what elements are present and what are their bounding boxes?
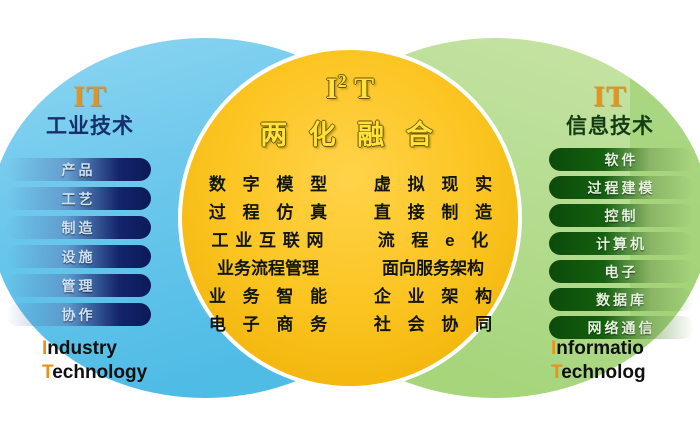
center-left-column: 数 字 模 型 过 程 仿 真 工 业 互 联 网 业务流程管理 业 务 智 能… xyxy=(193,168,343,336)
left-list-item[interactable]: 设施 xyxy=(6,245,151,268)
center-left-item: 业 务 智 能 xyxy=(193,280,343,308)
center-acronym-t: T xyxy=(354,72,374,105)
center-right-item: 直 接 制 造 xyxy=(358,196,508,224)
right-list-item-label: 软件 xyxy=(605,150,639,170)
left-panel-subtitle: 工业技术 xyxy=(14,115,166,139)
left-list-item[interactable]: 协作 xyxy=(6,303,151,326)
venn-diagram-canvas: IT 工业技术 产品 工艺 制造 设施 管理 协作 Industry Techn… xyxy=(0,0,700,436)
left-list-item-label: 管理 xyxy=(62,276,96,296)
right-list-item-label: 电子 xyxy=(605,262,639,282)
right-wordmark-line2: Technolog xyxy=(551,361,646,385)
center-right-item: 流 程 e 化 xyxy=(358,224,508,252)
center-acronym-i: I xyxy=(326,72,338,105)
center-right-column: 虚 拟 现 实 直 接 制 造 流 程 e 化 面向服务架构 企 业 架 构 社… xyxy=(358,168,508,336)
left-wordmark-cap-t: T xyxy=(42,362,52,383)
left-list-item[interactable]: 产品 xyxy=(6,158,151,181)
right-list-item-label: 控制 xyxy=(605,206,639,226)
left-list-item[interactable]: 制造 xyxy=(6,216,151,239)
left-list-item[interactable]: 工艺 xyxy=(6,187,151,210)
right-panel: IT 信息技术 xyxy=(534,82,686,139)
right-list-item[interactable]: 数据库 xyxy=(549,288,694,311)
center-right-item: 企 业 架 构 xyxy=(358,280,508,308)
left-wordmark-rest-technology: echnology xyxy=(52,362,147,383)
center-acronym-superscript: 2 xyxy=(338,71,347,91)
right-list-item[interactable]: 计算机 xyxy=(549,232,694,255)
center-right-item: 虚 拟 现 实 xyxy=(358,168,508,196)
center-right-item: 社 会 协 同 xyxy=(358,308,508,336)
left-list-item-label: 工艺 xyxy=(62,189,96,209)
right-list-item-label: 数据库 xyxy=(596,290,647,310)
right-wordmark-line1: Informatio xyxy=(551,337,646,361)
center-left-item: 工 业 互 联 网 xyxy=(193,224,343,252)
center-title: 两 化 融 合 xyxy=(220,113,480,152)
right-list-item-label: 过程建模 xyxy=(588,178,656,198)
center-heading-block: I2 T 两 化 融 合 xyxy=(220,72,480,152)
right-list-item[interactable]: 控制 xyxy=(549,204,694,227)
left-list-item-label: 协作 xyxy=(62,305,96,325)
right-list-item[interactable]: 电子 xyxy=(549,260,694,283)
left-wordmark-line2: Technology xyxy=(42,361,147,385)
left-it-mark: IT xyxy=(14,82,166,112)
center-left-item: 数 字 模 型 xyxy=(193,168,343,196)
right-wordmark-cap-t: T xyxy=(551,362,561,383)
left-wordmark: Industry Technology xyxy=(42,337,147,386)
center-left-item: 电 子 商 务 xyxy=(193,308,343,336)
right-list-item[interactable]: 网络通信 xyxy=(549,316,694,339)
right-list-item-label: 计算机 xyxy=(596,234,647,254)
left-list-item-label: 产品 xyxy=(62,160,96,180)
right-list-item-label: 网络通信 xyxy=(588,318,656,338)
center-left-item: 过 程 仿 真 xyxy=(193,196,343,224)
center-acronym: I2 T xyxy=(220,72,480,104)
right-wordmark: Informatio Technolog xyxy=(551,337,646,386)
right-panel-subtitle: 信息技术 xyxy=(534,115,686,139)
center-left-item: 业务流程管理 xyxy=(193,252,343,280)
right-wordmark-rest-technology: echnolog xyxy=(561,362,645,383)
right-it-mark: IT xyxy=(534,82,686,112)
left-panel: IT 工业技术 xyxy=(14,82,166,139)
center-right-item: 面向服务架构 xyxy=(358,252,508,280)
right-list-item[interactable]: 软件 xyxy=(549,148,694,171)
left-wordmark-rest-industry: ndustry xyxy=(47,338,117,359)
right-wordmark-rest-information: nformatio xyxy=(556,338,644,359)
left-wordmark-line1: Industry xyxy=(42,337,147,361)
right-list-item[interactable]: 过程建模 xyxy=(549,176,694,199)
left-list-item-label: 制造 xyxy=(62,218,96,238)
left-list-item[interactable]: 管理 xyxy=(6,274,151,297)
left-list-item-label: 设施 xyxy=(62,247,96,267)
